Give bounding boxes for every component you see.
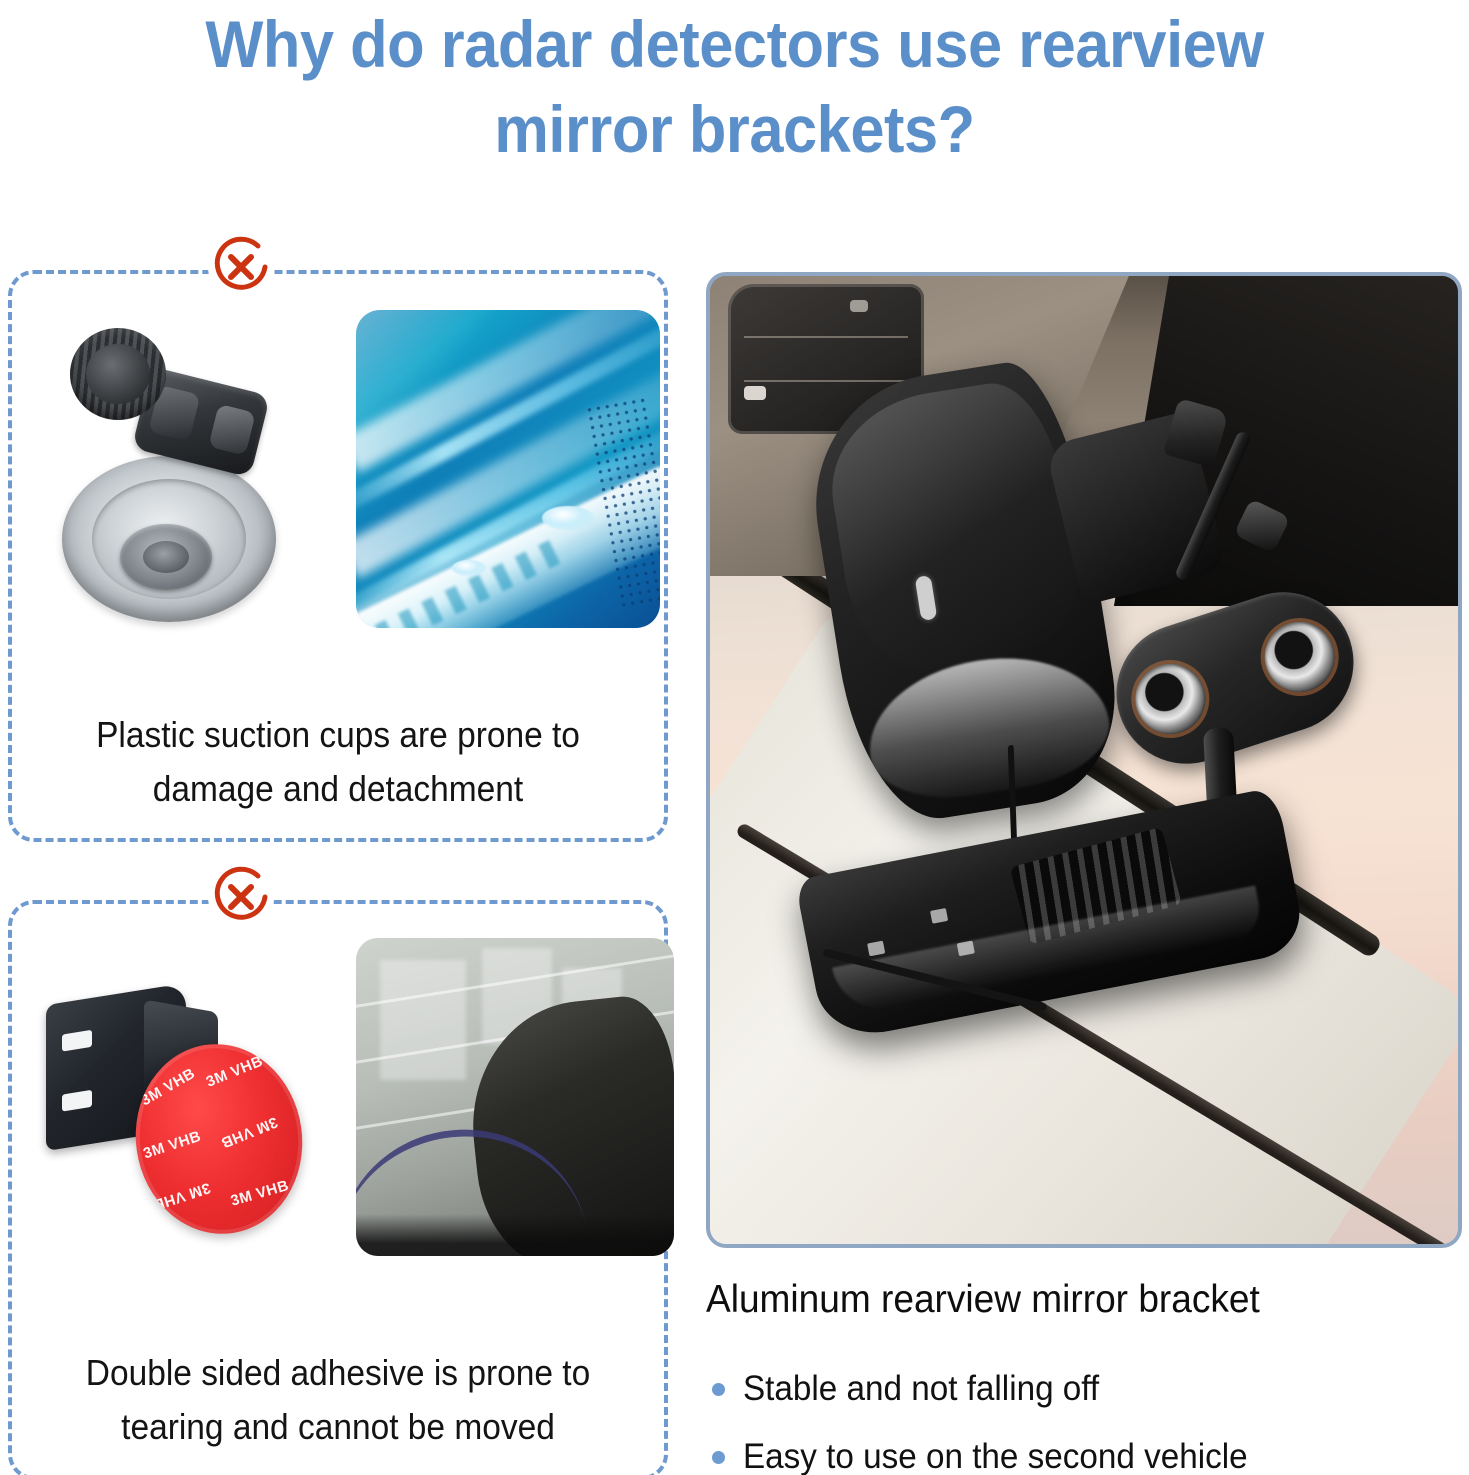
bullet-dot-icon (712, 1383, 725, 1396)
bad-card-caption: Double sided adhesive is prone to tearin… (48, 1346, 628, 1454)
image-slot-right (338, 932, 664, 1304)
page-title: Why do radar detectors use rearview mirr… (51, 2, 1417, 172)
bad-card-images (12, 302, 664, 674)
pad-mark: 3M VHB (150, 1179, 212, 1214)
bad-card-images: 3M VHB 3M VHB 3M VHB 3M VHB 3M VHB 3M VH… (12, 932, 664, 1304)
adhesive-bracket-with-3m-vhb-pad-photo: 3M VHB 3M VHB 3M VHB 3M VHB 3M VHB 3M VH… (40, 988, 302, 1248)
bad-card-caption: Plastic suction cups are prone to damage… (48, 708, 628, 816)
benefit-text: Stable and not falling off (743, 1369, 1099, 1409)
list-item: Easy to use on the second vehicle (712, 1423, 1469, 1475)
list-item: Stable and not falling off (712, 1355, 1469, 1423)
plastic-suction-cup-mount-photo (48, 328, 284, 628)
negative-examples-column: Plastic suction cups are prone to damage… (8, 270, 668, 842)
benefit-list: Stable and not falling off Easy to use o… (712, 1355, 1469, 1475)
image-slot-right (338, 302, 664, 674)
pad-mark: 3M VHB (204, 1053, 266, 1091)
pad-mark: 3M VHB (141, 1128, 203, 1163)
cracked-windshield-photo (356, 310, 660, 628)
bad-card-suction-cup: Plastic suction cups are prone to damage… (8, 270, 668, 842)
pad-mark: 3M VHB (218, 1113, 280, 1151)
circle-x-icon (208, 864, 274, 930)
hero-caption: Aluminum rearview mirror bracket (706, 1276, 1428, 1324)
bullet-dot-icon (712, 1451, 725, 1464)
bad-card-adhesive: 3M VHB 3M VHB 3M VHB 3M VHB 3M VHB 3M VH… (8, 900, 668, 1475)
positive-example-column (706, 272, 1462, 1248)
image-slot-left (12, 302, 338, 674)
infographic-page: Why do radar detectors use rearview mirr… (0, 0, 1469, 1475)
aluminum-rearview-mirror-bracket-installed-photo (706, 272, 1462, 1248)
image-slot-left: 3M VHB 3M VHB 3M VHB 3M VHB 3M VHB 3M VH… (12, 932, 338, 1304)
windshield-adhesive-mount-photo (356, 938, 674, 1256)
circle-x-icon (208, 234, 274, 300)
benefit-text: Easy to use on the second vehicle (743, 1437, 1248, 1475)
pad-mark: 3M VHB (229, 1177, 291, 1210)
